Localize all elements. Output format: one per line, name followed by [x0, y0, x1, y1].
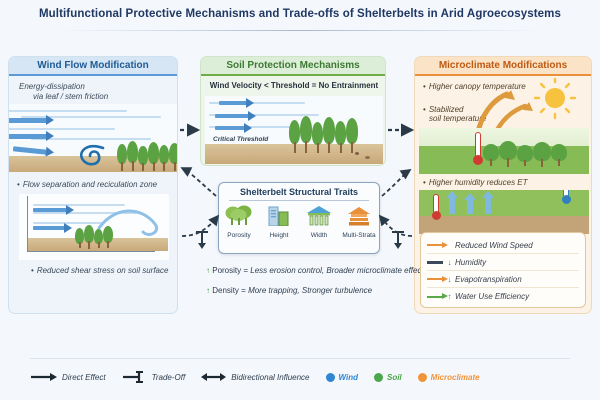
legend-soil: Soil — [374, 373, 402, 382]
wind-bullet-flow-separation: Flow separation and reciculation zone — [17, 180, 157, 190]
panel-soil-body: Wind Velocity < Threshold = No Entrainme… — [201, 76, 385, 165]
pavilion-icon — [304, 204, 334, 226]
traits-divider — [229, 200, 369, 201]
microclimate-color-dot — [418, 373, 427, 382]
trait-height[interactable]: Height — [261, 204, 298, 239]
tradeoff-equals: = — [241, 286, 246, 295]
legend-bidirectional: Bidirectional Influence — [201, 372, 309, 382]
trait-label: Height — [261, 232, 298, 239]
tradeoff-marker-right — [392, 232, 404, 249]
wind-caption-line2: via leaf / stem friction — [33, 92, 108, 103]
tradeoff-density: ↑ Density = More trapping, Stronger turb… — [206, 286, 372, 295]
micro-scene-upper — [419, 128, 589, 174]
buildings-icon — [264, 204, 294, 226]
wind-arrow — [8, 134, 47, 139]
heat-flux-arrows-icon — [471, 88, 541, 132]
soil-threshold-equation: Wind Velocity < Threshold = No Entrainme… — [207, 81, 381, 90]
tradeoff-effect: More trapping, Stronger turbulence — [248, 286, 372, 295]
traits-row: Porosity Height Width — [219, 204, 379, 239]
panel-micro-header: Microclimate Modifications — [415, 57, 591, 76]
critical-threshold-label: Critical Threshold — [213, 136, 268, 143]
traits-title: Shelterbelt Structural Traits — [219, 187, 379, 197]
thermometer-red-icon — [433, 194, 441, 220]
wind-color-dot — [326, 373, 335, 382]
tradeoff-effect: Less erosion control, Broader microclima… — [250, 266, 423, 275]
trait-label: Porosity — [221, 232, 258, 239]
micro-legend-label: Evapotranspiration — [455, 275, 522, 284]
up-arrow-icon: ↑ — [206, 266, 210, 275]
wind-scene-upper — [8, 104, 178, 172]
shelterbelt-structural-traits-card: Shelterbelt Structural Traits Porosity H… — [218, 182, 380, 254]
tree-cluster-icon — [224, 204, 254, 226]
micro-bullet-humidity-et: Higher humidity reduces ET — [423, 178, 528, 188]
arrow-traits-to-wind — [182, 168, 216, 196]
legend-wind: Wind — [326, 373, 358, 382]
legend-direct-effect: Direct Effect — [30, 372, 106, 382]
tradeoff-term: Porosity — [212, 266, 241, 275]
micro-legend-label: Water Use Efficiency — [455, 292, 529, 301]
legend-trade-off: Trade-Off — [122, 371, 186, 383]
panel-wind-header: Wind Flow Modification — [9, 57, 177, 76]
line-icon — [427, 261, 443, 264]
trait-porosity[interactable]: Porosity — [221, 204, 258, 239]
tradeoff-term: Density — [212, 286, 239, 295]
tradeoff-porosity: ↑ Porosity = Less erosion control, Broad… — [206, 266, 424, 275]
arrow-icon — [427, 244, 443, 246]
bidirectional-arrow-icon — [201, 372, 227, 382]
thermometer-red-icon — [475, 132, 483, 165]
micro-legend-row: ↓ Humidity — [427, 254, 579, 271]
page-title: Multifunctional Protective Mechanisms an… — [0, 8, 600, 20]
vortex-icon — [73, 140, 113, 170]
panel-wind-flow-modification: Wind Flow Modification Energy-dissipatio… — [8, 56, 178, 314]
arrow-icon — [427, 296, 443, 298]
legend-label: Bidirectional Influence — [231, 373, 309, 382]
legend-label: Microclimate — [431, 373, 480, 382]
micro-legend-row: ↓ Evapotranspiration — [427, 271, 579, 288]
trait-multi-strata[interactable]: Multi-Strata — [341, 204, 378, 239]
arrow-wind-to-traits — [182, 216, 218, 236]
micro-legend-row: ↑ Water Use Efficiency — [427, 288, 579, 305]
panel-wind-body: Energy-dissipation via leaf / stem frict… — [9, 76, 177, 313]
legend-divider — [30, 358, 570, 359]
arrow-micro-to-traits — [380, 216, 412, 236]
down-arrow-icon: ↓ — [446, 258, 453, 267]
soil-scene: Critical Threshold — [205, 96, 383, 164]
tradeoff-icon — [122, 371, 148, 383]
micro-scene-lower — [419, 190, 589, 234]
arrow-traits-to-micro — [382, 170, 410, 196]
micro-legend-row: Reduced Wind Speed — [427, 237, 579, 254]
trait-label: Width — [301, 232, 338, 239]
arrow-icon — [427, 278, 443, 280]
micro-legend-label: Reduced Wind Speed — [455, 241, 533, 250]
micro-legend-label: Humidity — [455, 258, 486, 267]
wind-scene-lower — [19, 194, 169, 260]
up-arrow-icon: ↑ — [206, 286, 210, 295]
direct-arrow-icon — [30, 372, 58, 382]
legend-microclimate: Microclimate — [418, 373, 480, 382]
title-divider — [60, 30, 540, 31]
microclimate-legend: Reduced Wind Speed ↓ Humidity ↓ Evapotra… — [420, 232, 586, 308]
legend-label: Wind — [339, 373, 358, 382]
legend-label: Direct Effect — [62, 373, 106, 382]
soil-color-dot — [374, 373, 383, 382]
panel-soil-protection-mechanisms: Soil Protection Mechanisms Wind Velocity… — [200, 56, 386, 166]
wind-arrow — [8, 118, 47, 123]
layered-structure-icon — [344, 204, 374, 226]
tradeoff-equals: = — [243, 266, 248, 275]
legend-label: Soil — [387, 373, 402, 382]
thermometer-blue-icon — [563, 190, 571, 204]
legend-label: Trade-Off — [152, 373, 186, 382]
trait-label: Multi-Strata — [341, 232, 378, 239]
trait-width[interactable]: Width — [301, 204, 338, 239]
tradeoff-marker-left — [196, 232, 208, 249]
wind-bullet-shear-stress: Reduced shear stress on soil surface — [31, 266, 168, 276]
bottom-legend: Direct Effect Trade-Off Bidirectional In… — [30, 366, 570, 388]
panel-soil-header: Soil Protection Mechanisms — [201, 57, 385, 76]
